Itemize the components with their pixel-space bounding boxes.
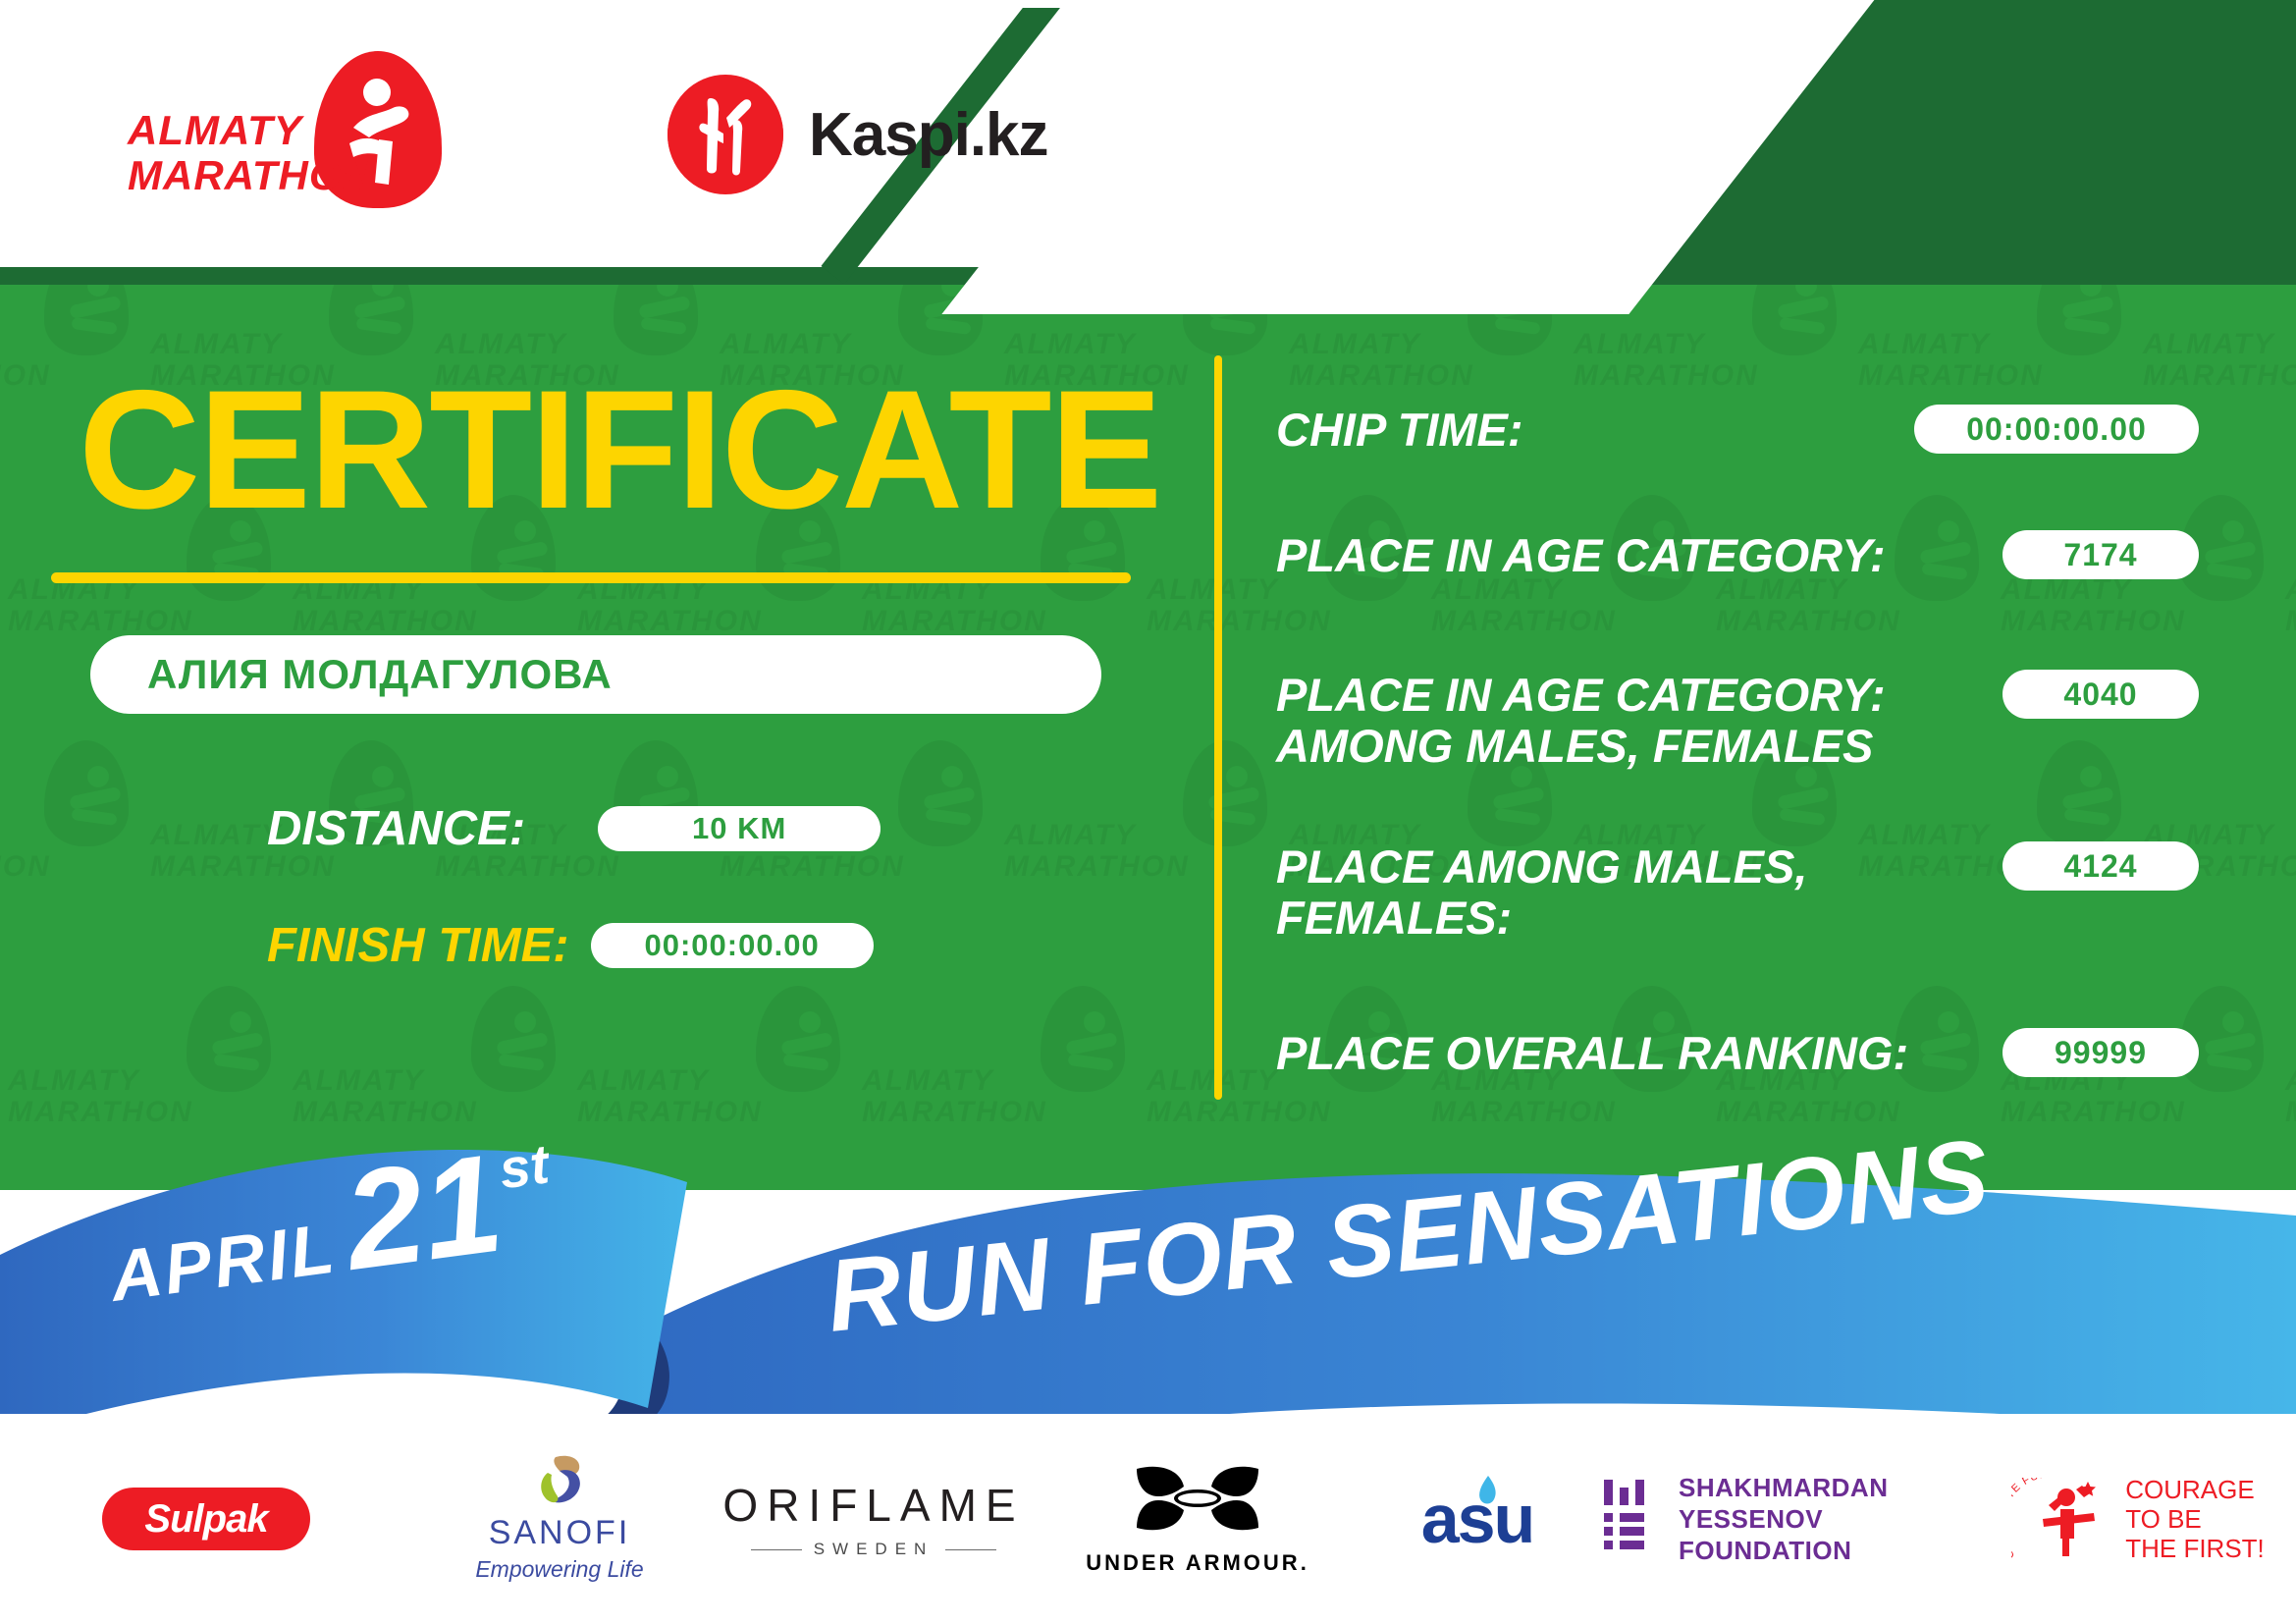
sanofi-name: SANOFI <box>475 1514 643 1552</box>
finish-time-row: FINISH TIME: 00:00:00.00 <box>267 918 874 973</box>
oriflame-logo: ORIFLAME SWEDEN <box>722 1479 1024 1559</box>
under-armour-mark-icon <box>1129 1463 1266 1540</box>
watermark-runner-leg-icon <box>782 1054 828 1071</box>
certificate-canvas: ALMATYMARATHONALMATYMARATHONALMATYMARATH… <box>0 0 2296 1624</box>
watermark-tile: ALMATYMARATHON <box>0 736 142 982</box>
watermark-line-2: MARATHON <box>8 605 193 638</box>
watermark-runner-leg-icon <box>1494 317 1540 335</box>
watermark-line-2: MARATHON <box>1574 359 1759 393</box>
watermark-drop-icon <box>471 986 556 1092</box>
sponsor-asu: asu <box>1355 1480 1600 1558</box>
stat-row: PLACE IN AGE CATEGORY: AMONG MALES, FEMA… <box>1276 670 2199 772</box>
athlete-name-field[interactable]: АЛИЯ МОЛДАГУЛОВА <box>90 635 1101 714</box>
oriflame-name: ORIFLAME <box>722 1479 1024 1532</box>
title-underline <box>51 572 1131 583</box>
watermark-runner-head-icon <box>87 766 109 787</box>
watermark-runner-arm-icon <box>211 541 264 566</box>
kaspi-logo: Kaspi.kz <box>667 75 1048 194</box>
watermark-runner-head-icon <box>2222 520 2244 542</box>
watermark-tile: ALMATYMARATHON <box>996 736 1281 982</box>
place-age-category-value: 7174 <box>2002 530 2199 579</box>
courage-logo: CORPORATE FUND COURAGE TO <box>2015 1472 2265 1566</box>
watermark-runner-leg-icon <box>2063 808 2109 826</box>
yessenov-mark-icon <box>1600 1480 1653 1558</box>
watermark-runner-head-icon <box>2222 1011 2244 1033</box>
yessenov-line-1: SHAKHMARDAN YESSENOV <box>1679 1472 1993 1535</box>
watermark-line-2: MARATHON <box>0 359 51 393</box>
watermark-runner-head-icon <box>799 1011 821 1033</box>
place-among-gender-label: PLACE AMONG MALES, FEMALES: <box>1276 841 1826 944</box>
event-day-suffix: st <box>496 1131 553 1201</box>
page-title: CERTIFICATE <box>79 365 1160 534</box>
watermark-runner-arm-icon <box>1065 541 1118 566</box>
courage-line-2: TO BE <box>2125 1504 2265 1534</box>
watermark-line-2: MARATHON <box>1431 605 1617 638</box>
watermark-drop-icon <box>1183 740 1267 846</box>
watermark-runner-arm-icon <box>2204 541 2257 566</box>
chip-time-label: CHIP TIME: <box>1276 405 1523 456</box>
watermark-runner-arm-icon <box>780 541 833 566</box>
watermark-runner-arm-icon <box>638 296 691 320</box>
vertical-divider <box>1214 355 1222 1100</box>
watermark-runner-arm-icon <box>780 1032 833 1056</box>
watermark-drop-icon <box>898 740 983 846</box>
athlete-name-value: АЛИЯ МОЛДАГУЛОВА <box>147 651 613 698</box>
sponsor-sulpak: Sulpak <box>0 1488 412 1550</box>
distance-label: DISTANCE: <box>267 801 525 856</box>
under-armour-logo: UNDER ARMOUR. <box>1086 1463 1309 1576</box>
courage-line-3: THE FIRST! <box>2125 1534 2265 1563</box>
green-background: ALMATYMARATHONALMATYMARATHONALMATYMARATH… <box>0 0 2296 1190</box>
watermark-line-1: ALMATY <box>1289 328 1421 361</box>
courage-runner-icon <box>2037 1476 2106 1558</box>
kaspi-mark-icon <box>667 75 783 194</box>
watermark-line-2: MARATHON <box>1858 359 2044 393</box>
watermark-runner-head-icon <box>1084 1011 1105 1033</box>
watermark-line-2: MARATHON <box>862 605 1047 638</box>
watermark-runner-arm-icon <box>2061 786 2114 811</box>
courage-mark-icon: CORPORATE FUND <box>2015 1472 2109 1566</box>
watermark-runner-head-icon <box>372 766 394 787</box>
watermark-runner-leg-icon <box>1494 808 1540 826</box>
sanofi-logo: SANOFI Empowering Life <box>475 1455 643 1583</box>
watermark-runner-arm-icon <box>1777 296 1830 320</box>
asu-droplet-icon <box>1472 1474 1502 1509</box>
place-age-category-label: PLACE IN AGE CATEGORY: <box>1276 530 1886 581</box>
watermark-line-1: ALMATY <box>2285 573 2296 607</box>
event-day: 21 <box>338 1133 509 1291</box>
oriflame-sub: SWEDEN <box>722 1540 1024 1559</box>
watermark-runner-leg-icon <box>2206 563 2252 580</box>
stat-row: PLACE AMONG MALES, FEMALES: 4124 <box>1276 841 2199 944</box>
watermark-runner-leg-icon <box>498 1054 544 1071</box>
sanofi-mark-icon <box>530 1455 589 1508</box>
watermark-runner-arm-icon <box>211 1032 264 1056</box>
watermark-tile: ALMATYMARATHON <box>2277 491 2296 736</box>
watermark-line-2: MARATHON <box>2285 605 2296 638</box>
watermark-runner-arm-icon <box>1065 1032 1118 1056</box>
watermark-runner-head-icon <box>941 766 963 787</box>
watermark-line-2: MARATHON <box>293 605 478 638</box>
courage-text: COURAGE TO BE THE FIRST! <box>2125 1475 2265 1563</box>
sponsor-oriflame: ORIFLAME SWEDEN <box>707 1479 1041 1559</box>
watermark-runner-head-icon <box>1226 766 1248 787</box>
watermark-line-2: MARATHON <box>1716 605 1901 638</box>
asu-logo: asu <box>1421 1480 1534 1558</box>
watermark-runner-arm-icon <box>1777 786 1830 811</box>
watermark-line-2: MARATHON <box>1289 359 1474 393</box>
watermark-drop-icon <box>187 986 271 1092</box>
place-among-gender-value: 4124 <box>2002 841 2199 891</box>
under-armour-name: UNDER ARMOUR. <box>1086 1550 1309 1576</box>
distance-value: 10 KM <box>598 806 881 851</box>
watermark-drop-icon <box>44 740 129 846</box>
watermark-line-2: MARATHON <box>2143 359 2296 393</box>
distance-row: DISTANCE: 10 KM <box>267 801 881 856</box>
watermark-line-2: MARATHON <box>1147 605 1332 638</box>
watermark-runner-leg-icon <box>213 1054 259 1071</box>
place-overall-label: PLACE OVERALL RANKING: <box>1276 1028 1908 1079</box>
watermark-drop-icon <box>1041 986 1125 1092</box>
marathon-line-2: MARATHON <box>128 153 373 198</box>
watermark-runner-leg-icon <box>925 808 971 826</box>
yessenov-line-2: FOUNDATION <box>1679 1535 1993 1566</box>
stat-row: CHIP TIME: 00:00:00.00 <box>1276 405 2199 456</box>
stat-row: PLACE OVERALL RANKING: 99999 <box>1276 1028 2199 1079</box>
watermark-runner-arm-icon <box>2204 1032 2257 1056</box>
watermark-runner-leg-icon <box>2206 1054 2252 1071</box>
marathon-line-1: ALMATY <box>128 108 373 153</box>
watermark-line-1: ALMATY <box>2143 328 2275 361</box>
watermark-runner-leg-icon <box>1779 317 1825 335</box>
sponsor-courage-fund: CORPORATE FUND COURAGE TO <box>1993 1472 2287 1566</box>
watermark-runner-arm-icon <box>69 786 122 811</box>
watermark-runner-leg-icon <box>71 808 117 826</box>
watermark-line-1: ALMATY <box>1147 573 1279 607</box>
oriflame-rule-left <box>751 1549 802 1550</box>
watermark-line-2: MARATHON <box>577 605 763 638</box>
watermark-line-1: ALMATY <box>150 819 283 852</box>
sulpak-logo: Sulpak <box>102 1488 310 1550</box>
watermark-line-2: MARATHON <box>0 850 51 884</box>
header-white-top-strip <box>0 0 1374 8</box>
watermark-runner-arm-icon <box>69 296 122 320</box>
watermark-runner-leg-icon <box>355 317 401 335</box>
watermark-runner-arm-icon <box>496 1032 549 1056</box>
watermark-runner-leg-icon <box>640 317 686 335</box>
watermark-runner-leg-icon <box>71 317 117 335</box>
yessenov-text: SHAKHMARDAN YESSENOV FOUNDATION <box>1679 1472 1993 1566</box>
sponsor-bar: Sulpak SANOFI Empowering Life ORIFLAME <box>0 1414 2296 1624</box>
blue-ribbon: APRIL 21 st RUN FOR SENSATIONS <box>0 1088 2296 1432</box>
watermark-runner-arm-icon <box>923 786 976 811</box>
kaspi-wordmark: Kaspi.kz <box>809 100 1048 170</box>
watermark-line-2: MARATHON <box>2001 605 2186 638</box>
watermark-runner-head-icon <box>230 1011 251 1033</box>
sanofi-tagline: Empowering Life <box>475 1556 643 1583</box>
stat-row: PLACE IN AGE CATEGORY: 7174 <box>1276 530 2199 581</box>
almaty-marathon-logo: ALMATY MARATHON <box>128 57 452 204</box>
place-age-category-gender-label: PLACE IN AGE CATEGORY: AMONG MALES, FEMA… <box>1276 670 1904 772</box>
watermark-runner-arm-icon <box>353 296 406 320</box>
courage-line-1: COURAGE <box>2125 1475 2265 1504</box>
watermark-runner-leg-icon <box>925 317 971 335</box>
sponsor-under-armour: UNDER ARMOUR. <box>1041 1463 1355 1576</box>
watermark-line-1: ALMATY <box>1858 328 1991 361</box>
watermark-runner-head-icon <box>514 1011 536 1033</box>
watermark-runner-leg-icon <box>1209 317 1255 335</box>
watermark-runner-leg-icon <box>1779 808 1825 826</box>
watermark-runner-arm-icon <box>2061 296 2114 320</box>
watermark-line-1: ALMATY <box>1574 328 1706 361</box>
sponsor-yessenov-foundation: SHAKHMARDAN YESSENOV FOUNDATION <box>1600 1472 1993 1566</box>
finish-time-label: FINISH TIME: <box>267 918 569 973</box>
finish-time-value: 00:00:00.00 <box>591 923 874 968</box>
place-age-category-gender-value: 4040 <box>2002 670 2199 719</box>
watermark-runner-arm-icon <box>496 541 549 566</box>
yessenov-logo: SHAKHMARDAN YESSENOV FOUNDATION <box>1600 1472 1993 1566</box>
sponsor-sanofi: SANOFI Empowering Life <box>412 1455 707 1583</box>
watermark-runner-head-icon <box>657 766 678 787</box>
watermark-runner-arm-icon <box>1492 786 1545 811</box>
oriflame-sub-text: SWEDEN <box>814 1540 934 1559</box>
watermark-runner-leg-icon <box>1067 1054 1113 1071</box>
almaty-marathon-wordmark: ALMATY MARATHON <box>128 108 373 198</box>
place-overall-value: 99999 <box>2002 1028 2199 1077</box>
watermark-runner-leg-icon <box>2063 317 2109 335</box>
watermark-line-1: ALMATY <box>1004 819 1137 852</box>
watermark-line-2: MARATHON <box>1004 850 1190 884</box>
chip-time-value: 00:00:00.00 <box>1914 405 2199 454</box>
watermark-drop-icon <box>756 986 840 1092</box>
oriflame-rule-right <box>945 1549 996 1550</box>
